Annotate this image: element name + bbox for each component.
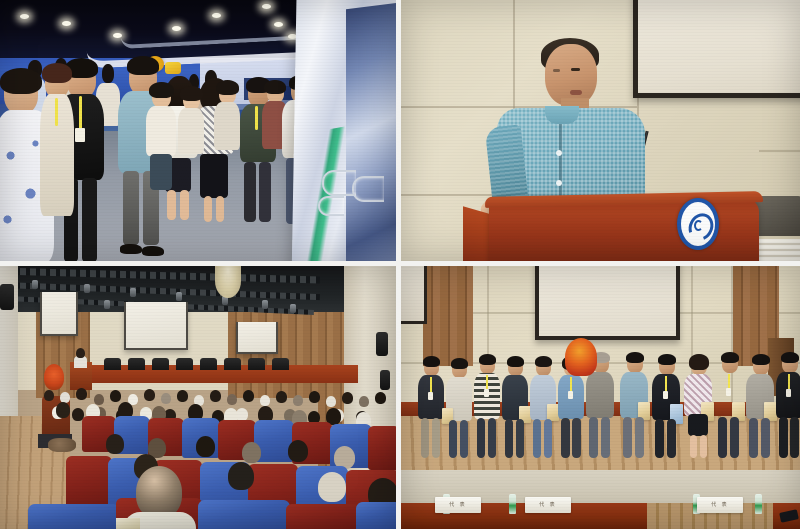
badge-card [75,128,85,142]
wall-wood-panel-left [423,266,473,366]
person-award-recipient [775,354,800,458]
person-award-recipient [529,358,557,458]
seat-red[interactable] [66,456,112,510]
speaker-mouth [570,90,582,95]
bouquet-flowers [565,338,597,376]
person-silhouette [178,88,204,206]
projection-screen-center [124,302,188,350]
photo-lecture-hall-audience[interactable] [0,266,396,529]
person-award-recipient [651,356,681,458]
table-name-card: 代 表 [525,497,571,513]
water-bottle [755,494,762,514]
projection-screen-center [535,266,680,340]
stage-light [176,292,182,301]
person-silhouette [146,84,176,212]
ceiling-spotlight [62,21,71,26]
ceiling-spotlight [20,14,29,19]
photo-exhibition-hall-tour[interactable] [0,0,396,261]
photo-award-ceremony-group[interactable]: 代 表 代 表 代 表 [401,266,800,529]
person-silhouette [214,82,240,206]
person-award-recipient [745,356,775,458]
seat-blue-foreground[interactable] [28,504,120,529]
audience-booklet [116,518,140,529]
seat-blue-foreground[interactable] [198,500,290,529]
wall-speaker-left [0,284,14,310]
photo-collage: 代 表 代 表 代 表 [0,0,800,529]
stage-chair [200,358,217,370]
person-award-recipient [417,358,445,458]
ceiling-spotlight [262,4,271,9]
ceiling-spotlight [172,26,181,31]
seat-red[interactable] [368,426,396,470]
shoe [142,246,164,256]
shirt-button [556,180,562,186]
audience-head-foreground [136,466,182,518]
projection-screen-right [236,322,278,354]
photo-content [0,266,396,529]
person-award-recipient [473,356,501,458]
stage-light [84,284,90,293]
water-bottle [509,494,516,514]
presenter-head [76,348,85,358]
projection-screen [633,0,800,98]
stage-chair [104,358,121,370]
ceiling-spotlight [212,13,221,18]
exhibit-panel-handle[interactable] [352,176,384,202]
table-name-card: 代 表 [697,497,743,513]
stage-light [104,300,110,309]
person-award-recipient [501,358,529,458]
stage-chair [176,358,193,370]
stage-chair [224,358,241,370]
spiral-logo-inner [694,220,703,231]
shirt-button [556,150,562,156]
ceiling-spotlight [113,33,122,38]
photo-content: 代 表 代 表 代 表 [401,266,800,529]
stage-light [130,288,136,297]
podium-spiral-logo-icon [677,198,719,250]
seat-red-foreground[interactable] [286,504,360,529]
photo-speaker-at-podium[interactable] [401,0,800,261]
exhibit-sign-yellow-held [165,62,181,74]
person-award-recipient [683,356,713,458]
ceiling-spotlight [274,22,283,27]
shoe [120,244,142,254]
wall-seam [759,150,800,152]
stage-chair [248,358,265,370]
photo-content [401,0,800,261]
speaker-eye [553,69,560,72]
photo-content [0,0,396,261]
exhibit-panel-handle[interactable] [322,170,356,196]
projection-screen-left [40,292,78,336]
speaker-head [545,44,597,106]
person-award-recipient [445,360,473,458]
bags-on-floor [48,438,76,452]
table-name-card: 代 表 [435,497,481,513]
shirt-collar [545,106,579,124]
stage-chair [272,358,289,370]
speaker-eye [571,68,580,71]
person-woman-cream-top [40,66,74,216]
stage-light [262,300,268,309]
stage-light [32,280,38,289]
stage-chair [152,358,169,370]
seat-blue-foreground[interactable] [356,502,396,529]
wall-speaker-right [376,332,388,356]
exhibit-panel-handle[interactable] [318,196,344,216]
person-award-recipient [714,354,744,458]
stage-chair [128,358,145,370]
projection-screen-left [401,266,427,324]
person-award-recipient [619,354,649,458]
stage-light [290,304,296,313]
